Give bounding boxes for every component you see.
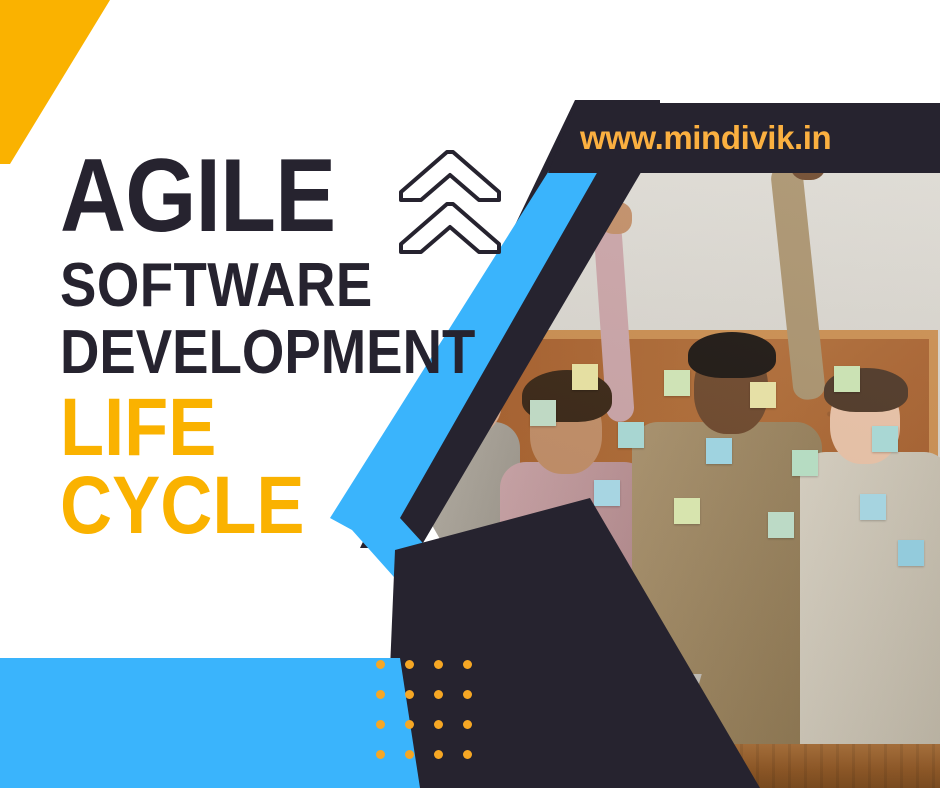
headline-line-software: SOFTWARE — [60, 257, 394, 315]
headline-line-cycle: CYCLE — [60, 468, 394, 544]
grid-dot — [434, 720, 443, 729]
website-url-text: www.mindivik.in — [580, 119, 831, 157]
poster-canvas: www.mindivik.in AGILE SOFTWARE DEVELOPME… — [0, 0, 940, 788]
sticky-note — [792, 450, 818, 476]
grid-dot — [434, 690, 443, 699]
sticky-note — [664, 370, 690, 396]
dot-grid-pattern — [376, 660, 492, 780]
sticky-note — [834, 366, 860, 392]
sticky-note — [706, 438, 732, 464]
grid-dot — [463, 660, 472, 669]
sticky-note — [872, 426, 898, 452]
sticky-note — [674, 498, 700, 524]
headline-line-development: DEVELOPMENT — [60, 324, 394, 382]
grid-dot — [376, 660, 385, 669]
grid-dot — [405, 690, 414, 699]
sticky-note — [750, 382, 776, 408]
grid-dot — [463, 750, 472, 759]
website-url-banner[interactable]: www.mindivik.in — [548, 103, 940, 173]
sticky-note — [594, 480, 620, 506]
blue-bottom-bar — [0, 658, 420, 788]
grid-dot — [434, 750, 443, 759]
headline-line-life: LIFE — [60, 390, 394, 466]
grid-dot — [434, 660, 443, 669]
grid-dot — [405, 660, 414, 669]
grid-dot — [405, 750, 414, 759]
hair — [688, 332, 776, 378]
sticky-note — [530, 400, 556, 426]
headline-block: AGILE SOFTWARE DEVELOPMENT LIFE CYCLE — [60, 148, 440, 545]
headline-line-agile: AGILE — [60, 148, 394, 245]
sticky-note — [572, 364, 598, 390]
sticky-note — [618, 422, 644, 448]
grid-dot — [463, 690, 472, 699]
grid-dot — [376, 690, 385, 699]
sticky-note — [898, 540, 924, 566]
grid-dot — [405, 720, 414, 729]
double-chevron-up-icon — [395, 148, 503, 256]
grid-dot — [376, 720, 385, 729]
grid-dot — [376, 750, 385, 759]
sticky-note — [768, 512, 794, 538]
sticky-note — [860, 494, 886, 520]
grid-dot — [463, 720, 472, 729]
